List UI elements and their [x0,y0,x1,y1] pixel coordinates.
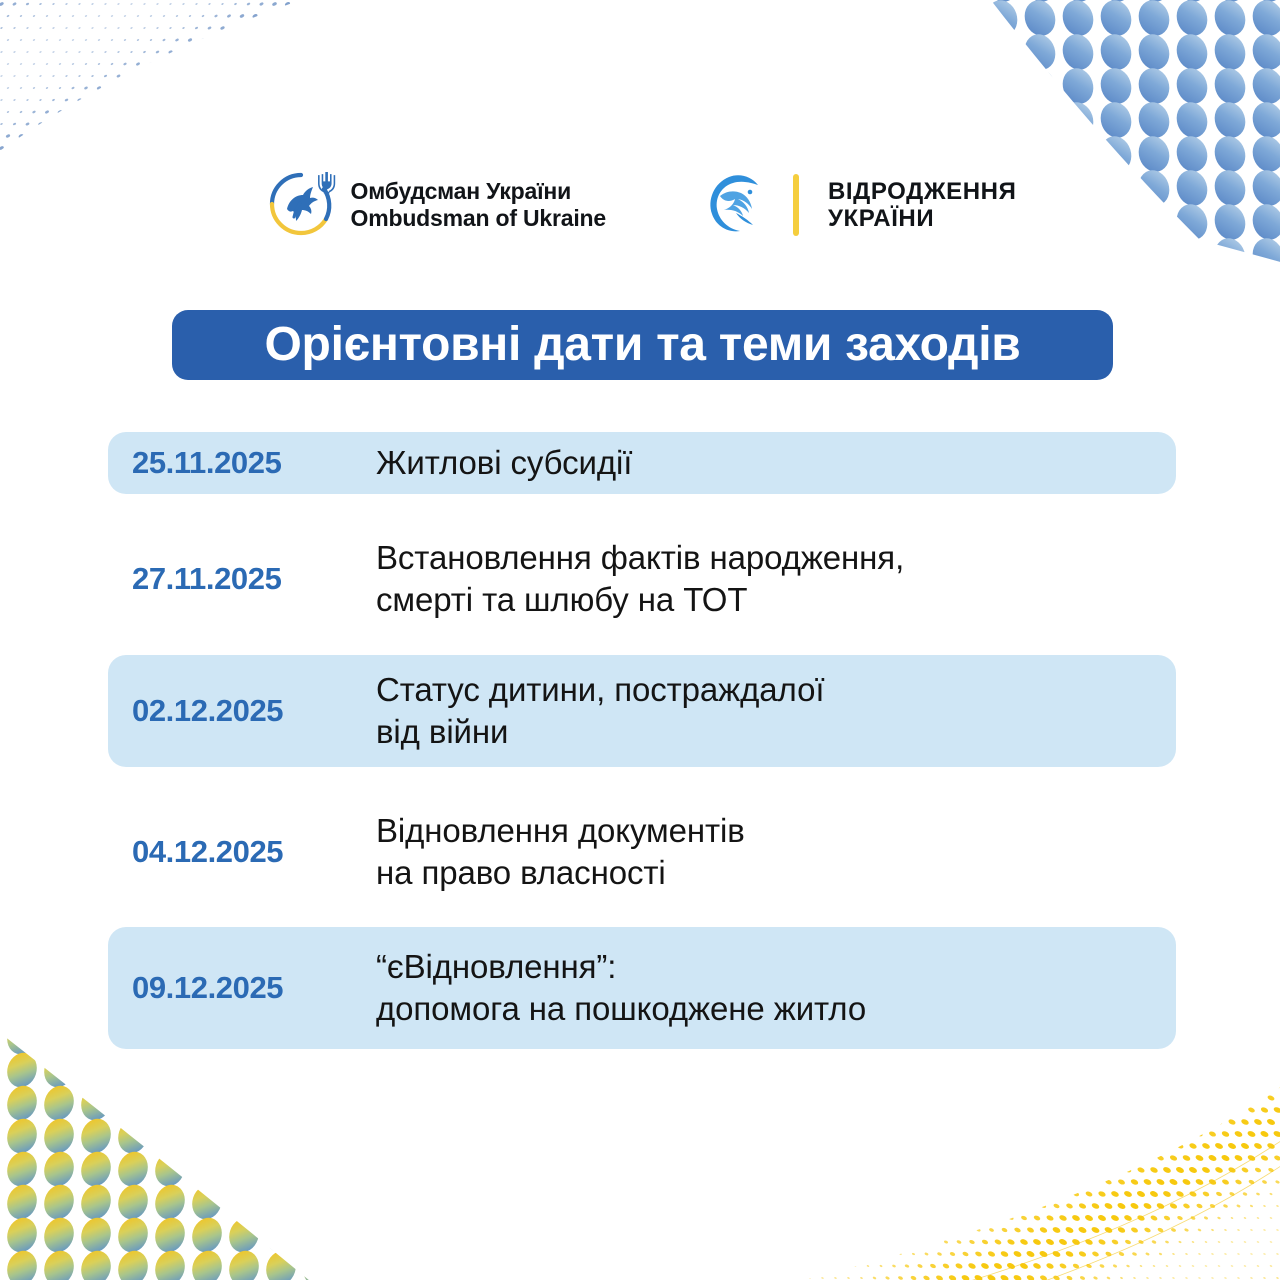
vidrodzhennia-wordmark: ВІДРОДЖЕННЯ УКРАЇНИ [828,178,1016,233]
event-topic-line: Житлові субсидії [376,442,1154,484]
page-title-banner: Орієнтовні дати та теми заходів [172,310,1113,380]
schedule-row: 04.12.2025 Відновлення документів на пра… [108,797,1176,907]
vidrodzhennia-title-line2: УКРАЇНИ [828,205,1016,232]
event-topic-line: допомога на пошкоджене житло [376,988,1154,1030]
event-date: 04.12.2025 [132,834,376,870]
vidrodzhennia-title-line1: ВІДРОДЖЕННЯ [828,178,1016,205]
event-topic-line: “єВідновлення”: [376,946,1154,988]
event-topic: Відновлення документів на право власност… [376,810,1154,893]
dove-hand-in-circle-with-trident-icon [264,169,338,241]
logo-header: Омбудсман України Ombudsman of Ukraine В… [0,160,1280,250]
bottom-right-yellow-dot-wave-decoration [560,1030,1280,1280]
event-topic: Встановлення фактів народження, смерті т… [376,537,1154,620]
event-topic: Статус дитини, постраждалої від війни [376,669,1154,752]
logo-divider-bar [793,174,799,236]
page-title: Орієнтовні дати та теми заходів [265,321,1021,369]
event-date: 02.12.2025 [132,693,376,729]
schedule-row: 27.11.2025 Встановлення фактів народженн… [108,524,1176,634]
ombudsman-title-uk: Омбудсман України [351,178,606,205]
event-topic-line: Відновлення документів [376,810,1154,852]
event-topic-line: смерті та шлюбу на ТОТ [376,579,1154,621]
event-topic: Житлові субсидії [376,442,1154,484]
event-topic-line: Встановлення фактів народження, [376,537,1154,579]
event-date: 09.12.2025 [132,970,376,1006]
schedule-row: 02.12.2025 Статус дитини, постраждалої в… [108,655,1176,767]
event-date: 25.11.2025 [132,445,376,481]
logo-ombudsman-of-ukraine: Омбудсман України Ombudsman of Ukraine [264,169,606,241]
schedule-row: 25.11.2025 Житлові субсидії [108,432,1176,494]
infographic-canvas: Омбудсман України Ombudsman of Ukraine В… [0,0,1280,1280]
event-topic-line: від війни [376,711,1154,753]
schedule-row: 09.12.2025 “єВідновлення”: допомога на п… [108,927,1176,1049]
event-topic-line: Статус дитини, постраждалої [376,669,1154,711]
logo-vidrodzhennia-ukrainy: ВІДРОДЖЕННЯ УКРАЇНИ [698,169,1016,241]
phoenix-bird-in-circle-icon [698,169,772,241]
schedule-list: 25.11.2025 Житлові субсидії 27.11.2025 В… [108,432,1176,1049]
event-date: 27.11.2025 [132,561,376,597]
ombudsman-title-en: Ombudsman of Ukraine [351,205,606,232]
event-topic: “єВідновлення”: допомога на пошкоджене ж… [376,946,1154,1029]
event-topic-line: на право власності [376,852,1154,894]
ombudsman-wordmark: Омбудсман України Ombudsman of Ukraine [351,178,606,231]
